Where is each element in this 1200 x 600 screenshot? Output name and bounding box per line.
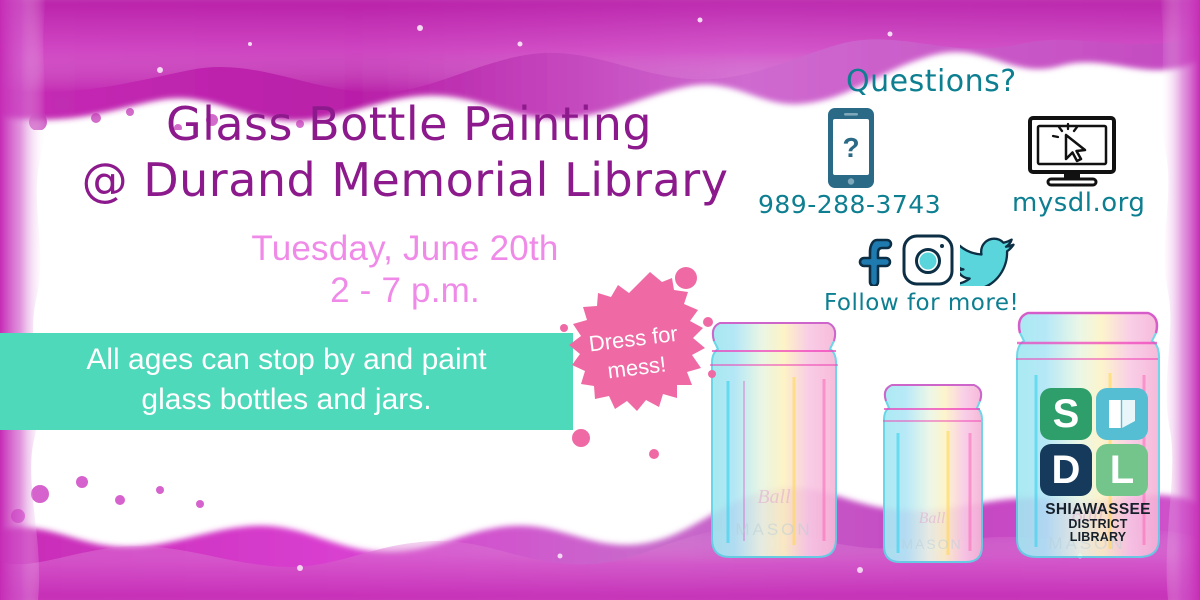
- svg-text:MASON: MASON: [901, 536, 962, 552]
- monitor-cursor-icon: [1026, 114, 1118, 195]
- questions-heading: Questions?: [846, 64, 1017, 99]
- poster-canvas: Ball MASON Ball MAS: [0, 0, 1200, 600]
- svg-text:Ball: Ball: [757, 486, 791, 508]
- instagram-icon[interactable]: [900, 232, 956, 288]
- event-title: Glass Bottle Painting @ Durand Memorial …: [60, 96, 750, 208]
- social-icons-group: [846, 232, 1018, 288]
- logo-name-line-1: SHIAWASSEE: [1040, 502, 1156, 518]
- svg-text:Ball: Ball: [919, 510, 946, 527]
- logo-wordmark: SHIAWASSEE DISTRICT LIBRARY: [1040, 502, 1156, 545]
- banner-line-2: glass bottles and jars.: [86, 380, 486, 420]
- mason-jar-small: Ball MASON: [872, 357, 992, 575]
- banner-line-1: All ages can stop by and paint: [86, 340, 486, 380]
- open-book-icon: [1096, 388, 1148, 440]
- svg-text:?: ?: [842, 132, 859, 163]
- logo-tile-grid: S D L: [1040, 388, 1156, 496]
- twitter-bird-icon[interactable]: [960, 234, 1018, 286]
- smartphone-icon: ?: [820, 106, 882, 195]
- description-banner: All ages can stop by and paint glass bot…: [0, 333, 573, 430]
- logo-tile-l: L: [1096, 444, 1148, 496]
- dress-for-mess-badge: Dress for mess!: [546, 262, 736, 462]
- facebook-icon[interactable]: [846, 234, 896, 286]
- logo-tile-s: S: [1040, 388, 1092, 440]
- title-line-2: @ Durand Memorial Library: [60, 152, 750, 208]
- title-line-1: Glass Bottle Painting: [60, 96, 750, 152]
- sdl-logo: S D L SHIAWASSEE DISTRICT LIBRARY: [1040, 388, 1156, 545]
- website-url[interactable]: mysdl.org: [1012, 188, 1145, 218]
- phone-number[interactable]: 989-288-3743: [758, 190, 941, 219]
- svg-text:MASON: MASON: [735, 520, 812, 539]
- logo-name-line-2: DISTRICT LIBRARY: [1040, 518, 1156, 544]
- follow-caption: Follow for more!: [824, 290, 1019, 316]
- logo-tile-d: D: [1040, 444, 1092, 496]
